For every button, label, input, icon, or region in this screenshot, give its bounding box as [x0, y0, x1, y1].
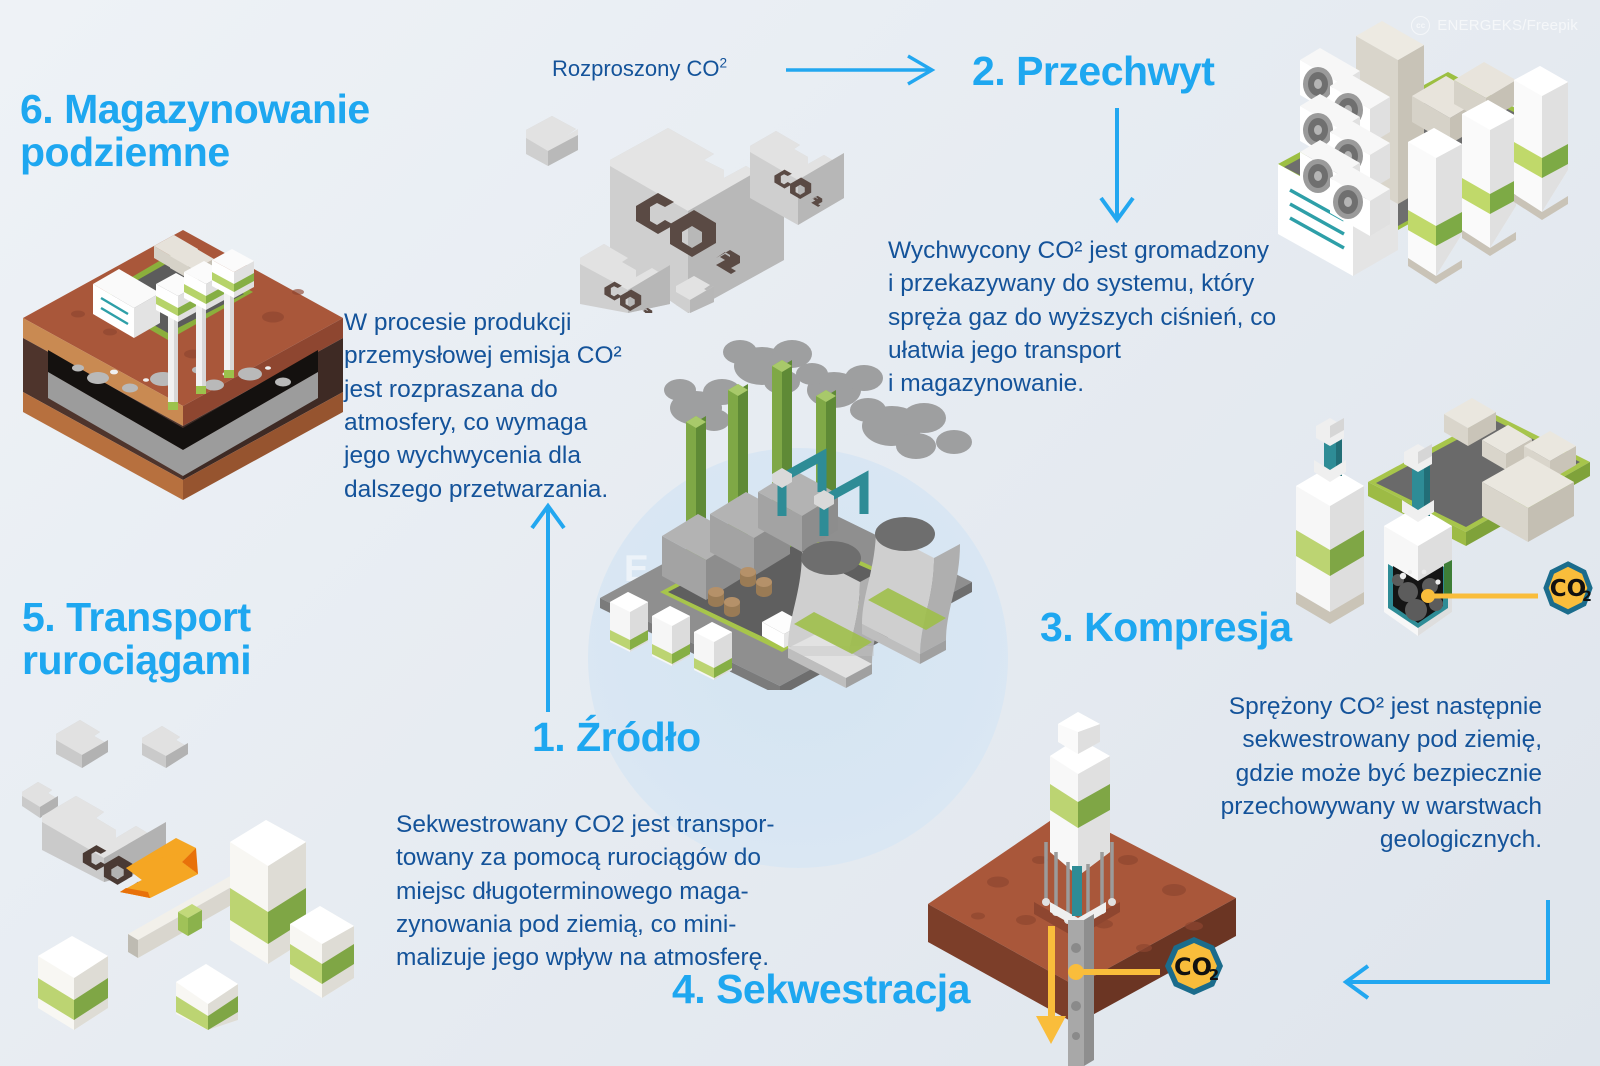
- step-5-line-1: Sekwestrowany CO2 jest transpor-: [396, 808, 866, 841]
- pipeline-transport-illustration: [0, 690, 400, 1030]
- wellhead: [1050, 712, 1110, 876]
- arrow-left-icon: [1346, 900, 1548, 998]
- step-1-title: 1. Źródło: [532, 716, 701, 759]
- storage-tank-middle: [1462, 100, 1516, 256]
- compression-illustration: CO 2: [1238, 396, 1600, 646]
- dispersed-co2-label: Rozproszony CO2: [552, 56, 727, 82]
- step-5-line-3: miejsc długoterminowego maga-: [396, 875, 866, 908]
- transport-tank-left: [38, 936, 108, 1030]
- transport-cloud-small-b: [142, 726, 188, 768]
- co2-cloud-group: [518, 108, 848, 313]
- arrow-up-icon: [532, 506, 564, 712]
- svg-text:CO: CO: [1550, 576, 1586, 602]
- storage-tank-back: [1514, 66, 1568, 220]
- step-5-description: Sekwestrowany CO2 jest transpor- towany …: [396, 808, 866, 975]
- infographic-canvas: ENERGEKS cc ENERGEKS/Freepik 6. Magazyno…: [0, 0, 1600, 1066]
- step-6-title: 6. Magazynowanie podziemne: [20, 88, 480, 175]
- step-2-line-2: i przekazywany do systemu, który: [888, 267, 1358, 300]
- svg-text:CO: CO: [1174, 953, 1212, 981]
- arrow-right-icon: [786, 56, 932, 84]
- svg-text:2: 2: [1582, 589, 1592, 605]
- power-plant-illustration: [576, 330, 996, 690]
- dispersed-co2-superscript: 2: [720, 56, 728, 71]
- compressor-tank-left: [1296, 418, 1364, 624]
- transport-cloud-small-a: [56, 720, 108, 768]
- step-5-line-4: zynowania pod ziemią, co mini-: [396, 908, 866, 941]
- step-5-line-2: towany za pomocą rurociągów do: [396, 841, 866, 874]
- step-2-title: 2. Przechwyt: [972, 50, 1214, 93]
- step-2-line-3: spręża gaz do wyższych ciśnień, co: [888, 301, 1358, 334]
- svg-text:2: 2: [1209, 966, 1219, 984]
- transport-tank-center: [176, 964, 238, 1030]
- arrow-down-icon: [1101, 108, 1133, 220]
- step-5-title: 5. Transport rurociągami: [22, 596, 251, 683]
- storage-tank-front: [1408, 128, 1462, 284]
- step-5-line-5: malizuje jego wpływ na atmosferę.: [396, 941, 866, 974]
- step-2-line-1: Wychwycony CO² jest gromadzony: [888, 234, 1358, 267]
- underground-storage-illustration: [18, 222, 348, 512]
- dispersed-co2-text: Rozproszony CO: [552, 56, 720, 81]
- co2-cloud-small-left: [526, 116, 578, 166]
- transport-tank-right: [290, 906, 354, 998]
